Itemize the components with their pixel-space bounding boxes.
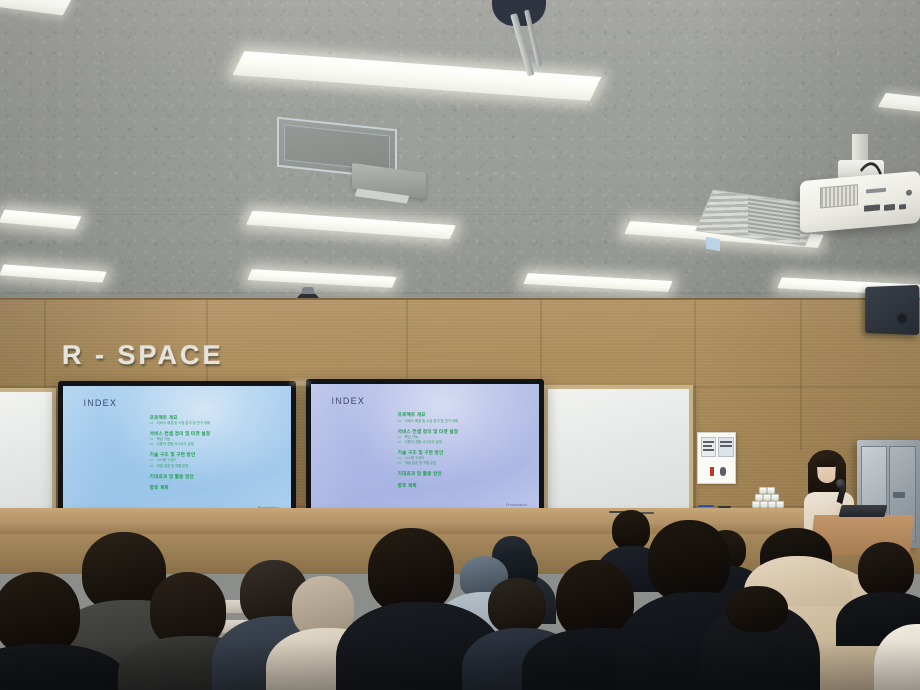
ceiling <box>0 0 920 318</box>
index-subitem: 02개발 일정 및 역할 분담 <box>398 461 523 466</box>
index-subitem-label: 핵심 기능 <box>405 435 418 439</box>
index-heading: 향후 계획 <box>150 485 275 491</box>
poster-line <box>720 441 732 443</box>
index-subitem-label: 서비스 배경 및 시장 분석 및 연구 과제 <box>157 421 210 425</box>
index-heading: 기대효과 및 활용 방안 <box>150 474 275 480</box>
ceiling-shading <box>0 0 920 318</box>
index-subitem-number: 01 <box>150 458 153 463</box>
index-subitem-number: 01 <box>398 456 401 461</box>
poster-line <box>703 449 714 451</box>
whiteboard-right <box>544 385 693 513</box>
poster-panel <box>701 437 716 457</box>
projector-knob <box>906 189 912 196</box>
index-heading: 기대효과 및 활용 방안 <box>398 471 523 477</box>
index-subitem-label: 시스템 구성도 <box>157 458 177 462</box>
index-subitem-label: 서비스 배경 및 시장 분석 및 연구 과제 <box>405 419 458 423</box>
index-subitem: 01서비스 배경 및 시장 분석 및 연구 과제 <box>150 421 275 426</box>
projector-side-vent <box>748 196 800 241</box>
poster-line <box>720 445 732 447</box>
audience-head <box>612 510 650 550</box>
index-group: 기대효과 및 활용 방안 <box>150 474 275 480</box>
index-subitem-label: 핵심 기능 <box>157 437 170 441</box>
paper-cup <box>763 494 771 501</box>
index-group: 서비스 컨셉 정의 및 타겟 설정 01핵심 기능 02사용자 경험 시나리오 … <box>398 429 523 445</box>
index-heading: 향후 계획 <box>398 483 523 489</box>
index-group: 기대효과 및 활용 방안 <box>398 471 523 477</box>
index-subitem: 02개발 일정 및 역할 분담 <box>150 464 275 469</box>
microphone-head <box>836 479 845 488</box>
index-subitem-number: 01 <box>150 437 153 442</box>
index-list-right: 프로젝트 개요 01서비스 배경 및 시장 분석 및 연구 과제 서비스 컨셉 … <box>398 412 523 493</box>
slide-logo: Presentation <box>506 503 528 507</box>
slide-title: INDEX <box>332 396 366 406</box>
index-subitem-number: 01 <box>150 421 153 426</box>
slide-title: INDEX <box>84 398 118 408</box>
marker-pen <box>718 506 731 508</box>
index-subitem-number: 02 <box>150 442 153 447</box>
poster-line <box>703 441 714 443</box>
audience-head <box>488 578 546 634</box>
paper-cup <box>752 501 760 508</box>
paper-cup <box>776 501 784 508</box>
projector-icon <box>800 171 920 233</box>
index-subitem-number: 02 <box>398 440 401 445</box>
venue-sign: R - SPACE <box>62 340 224 371</box>
slide-right: INDEX 프로젝트 개요 01서비스 배경 및 시장 분석 및 연구 과제 서… <box>311 384 539 513</box>
projector-grille <box>820 184 858 208</box>
display-gap-glare <box>290 381 310 385</box>
paper-cup <box>755 494 763 501</box>
index-subitem-number: 02 <box>150 464 153 469</box>
slide-left: INDEX 프로젝트 개요 01서비스 배경 및 시장 분석 및 연구 과제 서… <box>63 386 291 516</box>
index-subitem: 01서비스 배경 및 시장 분석 및 연구 과제 <box>398 419 523 424</box>
audience-head <box>648 520 730 602</box>
index-subitem-label: 사용자 경험 시나리오 설계 <box>157 442 194 446</box>
index-subitem-number: 01 <box>398 435 401 440</box>
index-subitem-label: 사용자 경험 시나리오 설계 <box>405 440 442 444</box>
poster-icon <box>720 467 726 476</box>
paper-cup <box>759 487 767 494</box>
index-subitem-number: 02 <box>398 461 401 466</box>
index-subitem-number: 01 <box>398 419 401 424</box>
cabinet-handle[interactable] <box>893 492 905 498</box>
paper-cup <box>760 501 768 508</box>
index-subitem: 02사용자 경험 시나리오 설계 <box>150 442 275 447</box>
ceiling-seam <box>0 292 920 294</box>
marker-pen <box>698 505 714 507</box>
index-subitem: 02사용자 경험 시나리오 설계 <box>398 440 523 445</box>
wall-poster <box>697 432 736 484</box>
paper-cup-stack <box>752 486 782 508</box>
poster-icon <box>710 467 714 476</box>
index-subitem-label: 개발 일정 및 역할 분담 <box>157 464 189 468</box>
paper-cup <box>771 494 779 501</box>
audience-head <box>858 542 914 598</box>
index-group: 서비스 컨셉 정의 및 타겟 설정 01핵심 기능 02사용자 경험 시나리오 … <box>150 431 275 447</box>
projector-port <box>884 204 895 211</box>
paper-cup <box>767 487 775 494</box>
laptop-icon[interactable] <box>839 505 888 517</box>
index-group: 기술 구조 및 구현 방안 01시스템 구성도 02개발 일정 및 역할 분담 <box>150 452 275 468</box>
display-left[interactable]: INDEX 프로젝트 개요 01서비스 배경 및 시장 분석 및 연구 과제 서… <box>58 381 296 521</box>
whiteboard-left <box>0 388 56 523</box>
lecture-hall-photo: R - SPACE INDEX 프로젝트 개요 01서비스 배경 및 시장 분석… <box>0 0 920 690</box>
projector-label <box>866 188 886 194</box>
poster-panel <box>718 437 734 457</box>
index-subitem-label: 개발 일정 및 역할 분담 <box>405 461 437 465</box>
index-subitem-label: 시스템 구성도 <box>405 456 425 460</box>
projector-port <box>864 204 880 211</box>
index-group: 향후 계획 <box>150 485 275 491</box>
poster-line <box>703 445 712 447</box>
index-group: 프로젝트 개요 01서비스 배경 및 시장 분석 및 연구 과제 <box>150 415 275 426</box>
projector-port <box>899 204 906 210</box>
display-right[interactable]: INDEX 프로젝트 개요 01서비스 배경 및 시장 분석 및 연구 과제 서… <box>306 379 544 518</box>
wall-speaker-icon <box>865 285 919 335</box>
paper-cup <box>768 501 776 508</box>
index-list-left: 프로젝트 개요 01서비스 배경 및 시장 분석 및 연구 과제 서비스 컨셉 … <box>150 415 275 496</box>
index-group: 프로젝트 개요 01서비스 배경 및 시장 분석 및 연구 과제 <box>398 412 523 423</box>
audience-head <box>726 586 788 632</box>
index-group: 기술 구조 및 구현 방안 01시스템 구성도 02개발 일정 및 역할 분담 <box>398 450 523 466</box>
index-group: 향후 계획 <box>398 483 523 489</box>
ceiling-sticker <box>706 237 720 251</box>
